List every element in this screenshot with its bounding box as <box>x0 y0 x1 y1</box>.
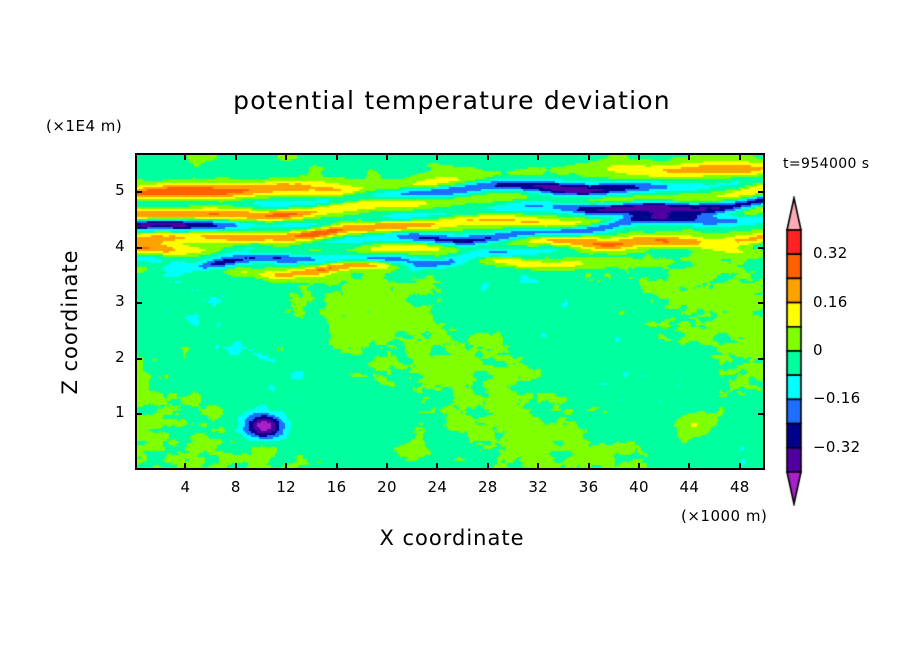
x-tick-label: 32 <box>518 478 558 496</box>
colorbar-tick-label: −0.32 <box>813 438 860 456</box>
contour-plot-figure: potential temperature deviation (×1E4 m)… <box>0 0 904 654</box>
y-axis-title: Z coordinate <box>58 222 82 422</box>
colorbar-tick-label: −0.16 <box>813 389 860 407</box>
y-tick-mark <box>135 191 142 193</box>
x-tick-mark-top <box>739 153 741 160</box>
y-tick-mark-right <box>758 302 765 304</box>
y-axis-unit-label: (×1E4 m) <box>46 117 122 135</box>
colorbar-tick-label: 0 <box>813 341 823 359</box>
x-tick-mark <box>537 463 539 470</box>
x-tick-mark-top <box>688 153 690 160</box>
y-tick-mark <box>135 413 142 415</box>
plot-area <box>135 153 765 470</box>
x-tick-label: 48 <box>720 478 760 496</box>
x-tick-mark-top <box>285 153 287 160</box>
x-tick-mark <box>386 463 388 470</box>
y-tick-label: 2 <box>101 348 125 366</box>
x-tick-label: 40 <box>619 478 659 496</box>
y-tick-label: 5 <box>101 181 125 199</box>
x-tick-label: 16 <box>317 478 357 496</box>
y-tick-mark-right <box>758 191 765 193</box>
x-tick-mark-top <box>336 153 338 160</box>
y-tick-label: 1 <box>101 403 125 421</box>
x-tick-mark-top <box>638 153 640 160</box>
x-tick-mark <box>285 463 287 470</box>
x-tick-mark <box>688 463 690 470</box>
y-tick-mark <box>135 247 142 249</box>
y-tick-mark-right <box>758 247 765 249</box>
x-tick-label: 24 <box>417 478 457 496</box>
x-tick-mark-top <box>235 153 237 160</box>
x-tick-mark <box>638 463 640 470</box>
x-tick-label: 4 <box>165 478 205 496</box>
colorbar-canvas <box>779 196 809 506</box>
page-title: potential temperature deviation <box>0 86 904 115</box>
x-axis-title: X coordinate <box>0 526 904 550</box>
x-tick-label: 28 <box>468 478 508 496</box>
contour-field-canvas <box>137 155 765 470</box>
y-tick-label: 3 <box>101 292 125 310</box>
x-tick-mark <box>739 463 741 470</box>
x-tick-label: 8 <box>216 478 256 496</box>
x-tick-mark <box>336 463 338 470</box>
y-tick-mark-right <box>758 413 765 415</box>
x-tick-mark <box>436 463 438 470</box>
x-tick-mark <box>235 463 237 470</box>
y-tick-mark <box>135 358 142 360</box>
x-tick-mark-top <box>588 153 590 160</box>
x-tick-label: 44 <box>669 478 709 496</box>
x-tick-mark <box>588 463 590 470</box>
colorbar-tick-label: 0.16 <box>813 293 848 311</box>
colorbar: 0.320.160−0.16−0.32 <box>779 196 809 506</box>
x-tick-label: 12 <box>266 478 306 496</box>
time-annotation: t=954000 s <box>783 156 869 172</box>
x-tick-mark-top <box>386 153 388 160</box>
x-tick-mark-top <box>184 153 186 160</box>
y-tick-mark <box>135 302 142 304</box>
x-axis-unit-label: (×1000 m) <box>681 507 767 525</box>
colorbar-tick-label: 0.32 <box>813 244 848 262</box>
y-tick-mark-right <box>758 358 765 360</box>
x-tick-label: 36 <box>569 478 609 496</box>
x-tick-label: 20 <box>367 478 407 496</box>
x-tick-mark-top <box>436 153 438 160</box>
x-tick-mark <box>487 463 489 470</box>
x-tick-mark <box>184 463 186 470</box>
y-tick-label: 4 <box>101 237 125 255</box>
x-tick-mark-top <box>487 153 489 160</box>
x-tick-mark-top <box>537 153 539 160</box>
